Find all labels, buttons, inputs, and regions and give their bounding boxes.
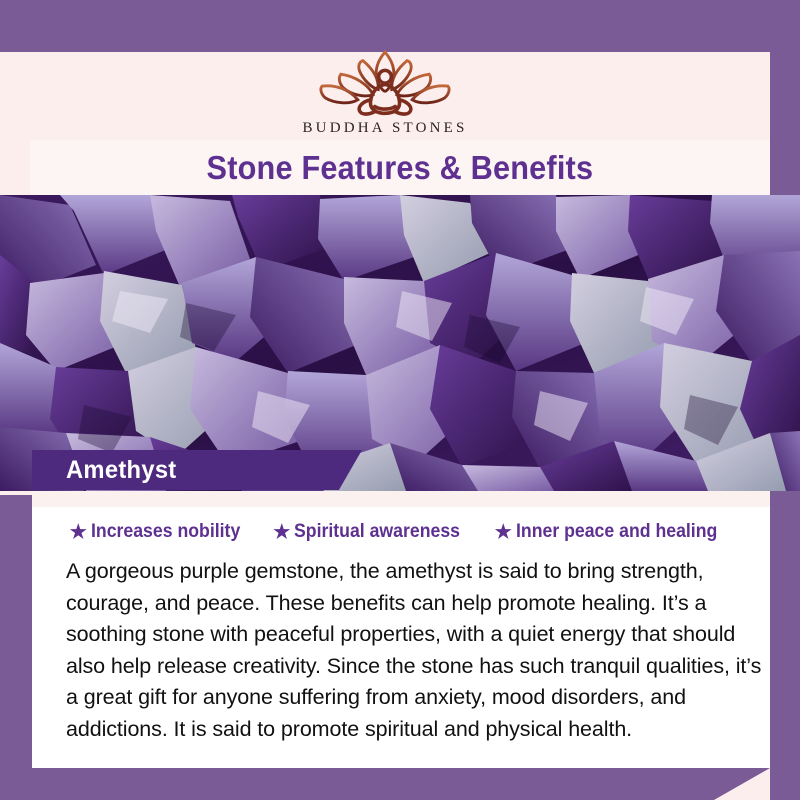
feature-item-1: ★ Increases nobility bbox=[70, 521, 252, 543]
star-icon: ★ bbox=[495, 523, 512, 542]
brand-logo: BUDDHA STONES bbox=[0, 56, 770, 137]
feature-item-3: ★ Inner peace and healing bbox=[495, 521, 733, 543]
panel-top-strip bbox=[32, 491, 770, 507]
feature-label: Spiritual awareness bbox=[294, 521, 460, 543]
frame-left-border bbox=[0, 495, 32, 800]
stone-name-banner: Amethyst bbox=[32, 450, 362, 490]
feature-label: Increases nobility bbox=[91, 521, 240, 543]
feature-item-2: ★ Spiritual awareness bbox=[273, 521, 473, 543]
page-title: Stone Features & Benefits bbox=[207, 149, 594, 187]
star-icon: ★ bbox=[273, 523, 290, 542]
brand-name: BUDDHA STONES bbox=[302, 120, 467, 137]
feature-label: Inner peace and healing bbox=[516, 521, 717, 543]
photo-artwork bbox=[0, 195, 800, 491]
infographic-page: BUDDHA STONES Stone Features & Benefits bbox=[0, 0, 800, 800]
stone-description: A gorgeous purple gemstone, the amethyst… bbox=[66, 556, 778, 745]
star-icon: ★ bbox=[70, 523, 87, 542]
title-band: Stone Features & Benefits bbox=[30, 140, 770, 195]
lotus-meditation-figure-icon bbox=[300, 38, 470, 124]
feature-list: ★ Increases nobility ★ Spiritual awarene… bbox=[32, 513, 770, 551]
amethyst-crystal-cluster-photo bbox=[0, 195, 800, 491]
frame-bottom-border bbox=[0, 768, 800, 800]
stone-name: Amethyst bbox=[66, 456, 177, 485]
